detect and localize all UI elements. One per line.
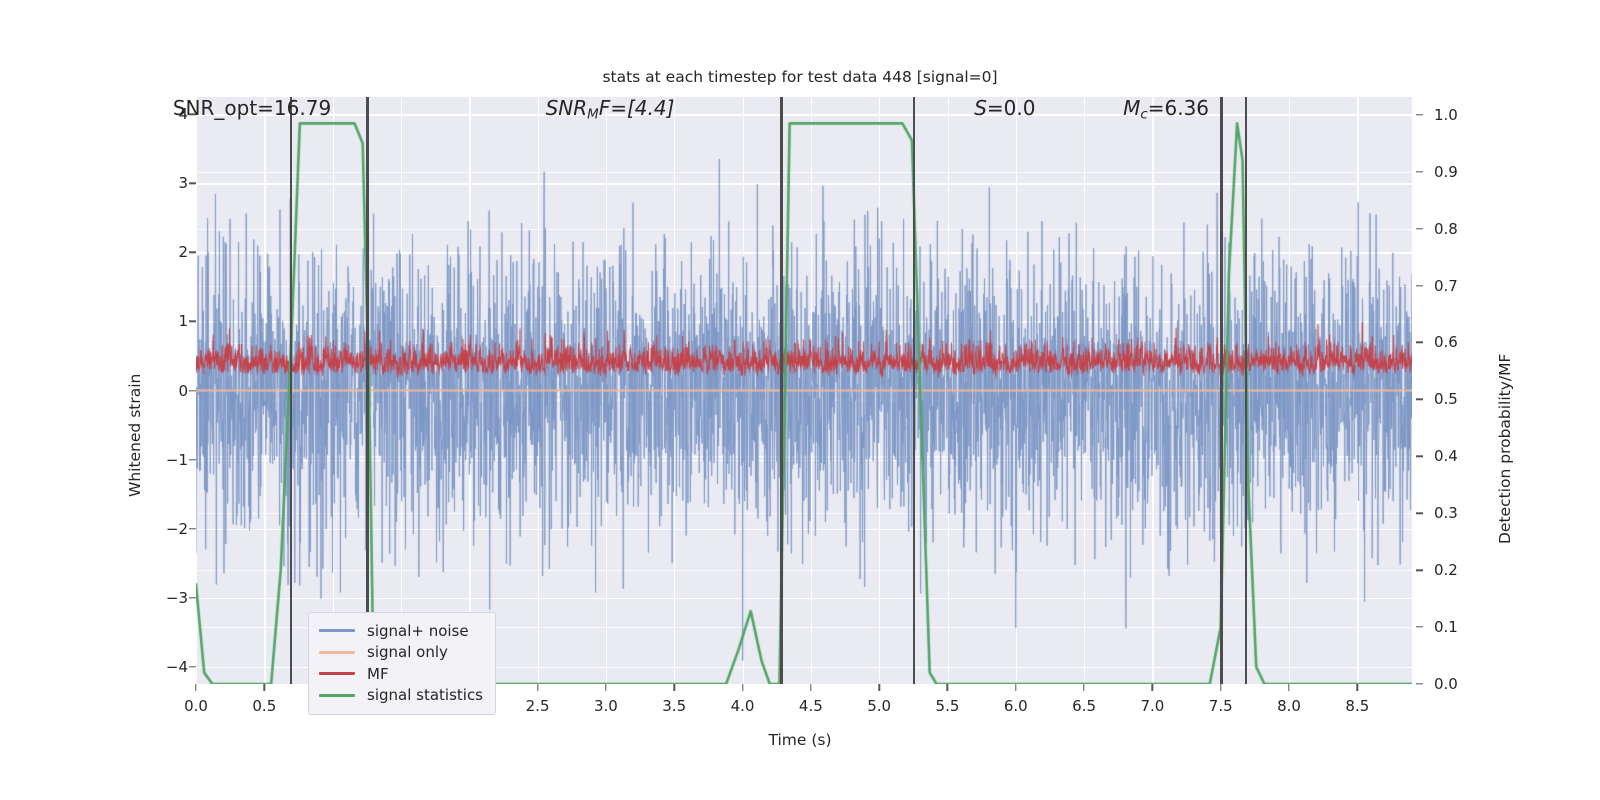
y-tick-mark-left	[189, 390, 196, 391]
x-tick-mark	[878, 684, 879, 691]
y-tick-mark-left	[189, 321, 196, 322]
y-tick-label-right: 0.8	[1434, 220, 1458, 238]
page-title: stats at each timestep for test data 448…	[0, 68, 1600, 86]
annotation-snr-mf: SNRMF=[4.4]	[546, 96, 675, 122]
y-tick-mark-left	[189, 252, 196, 253]
x-tick-mark	[1152, 684, 1153, 691]
y-tick-mark-right	[1416, 456, 1423, 457]
x-tick-label: 8.5	[1345, 697, 1369, 715]
y-tick-mark-right	[1416, 114, 1423, 115]
x-tick-mark	[1357, 684, 1358, 691]
legend-item-label: signal+ noise	[367, 622, 469, 640]
x-tick-label: 4.0	[731, 697, 755, 715]
y-tick-mark-right	[1416, 342, 1423, 343]
legend-color-swatch	[319, 651, 355, 654]
annotation-s-value: S=0.0	[974, 96, 1035, 120]
y-tick-label-left: 0	[146, 382, 188, 400]
legend-item[interactable]: signal+ noise	[319, 620, 483, 642]
y-tick-label-left: 2	[146, 243, 188, 261]
y-tick-label-left: −1	[146, 451, 188, 469]
y-tick-label-left: −4	[146, 658, 188, 676]
signal-statistics-curve	[196, 97, 1412, 684]
y-tick-label-right: 0.2	[1434, 561, 1458, 579]
x-tick-mark	[1288, 684, 1289, 691]
y-tick-label-right: 0.9	[1434, 163, 1458, 181]
x-tick-mark	[1015, 684, 1016, 691]
legend-color-swatch	[319, 694, 355, 697]
x-tick-mark	[195, 684, 196, 691]
y-tick-label-right: 0.0	[1434, 675, 1458, 693]
y-tick-mark-right	[1416, 171, 1423, 172]
legend-item-label: signal only	[367, 643, 448, 661]
x-axis-label: Time (s)	[0, 731, 1600, 749]
legend-color-swatch	[319, 629, 355, 632]
y-tick-label-right: 0.1	[1434, 618, 1458, 636]
legend-item[interactable]: MF	[319, 663, 483, 685]
x-tick-label: 6.0	[1004, 697, 1028, 715]
y-tick-label-left: 3	[146, 174, 188, 192]
y-tick-label-left: −2	[146, 520, 188, 538]
y-tick-mark-right	[1416, 569, 1423, 570]
x-tick-mark	[605, 684, 606, 691]
x-tick-mark	[742, 684, 743, 691]
y-tick-mark-left	[189, 528, 196, 529]
y-tick-mark-left	[189, 597, 196, 598]
y-tick-label-left: 1	[146, 312, 188, 330]
legend-item[interactable]: signal statistics	[319, 685, 483, 707]
y-tick-mark-right	[1416, 626, 1423, 627]
y-tick-mark-right	[1416, 513, 1423, 514]
y-axis-label-right: Detection probability/MF	[1496, 354, 1514, 544]
x-tick-mark	[537, 684, 538, 691]
x-tick-label: 3.5	[662, 697, 686, 715]
legend-color-swatch	[319, 672, 355, 675]
y-tick-label-right: 0.5	[1434, 390, 1458, 408]
x-tick-label: 3.0	[594, 697, 618, 715]
event-marker-line	[290, 97, 292, 684]
y-tick-label-right: 1.0	[1434, 106, 1458, 124]
y-tick-mark-right	[1416, 285, 1423, 286]
y-tick-mark-right	[1416, 228, 1423, 229]
y-tick-mark-left	[189, 459, 196, 460]
y-tick-label-right: 0.4	[1434, 447, 1458, 465]
y-tick-mark-right	[1416, 683, 1423, 684]
y-tick-label-right: 0.6	[1434, 333, 1458, 351]
x-tick-label: 0.5	[252, 697, 276, 715]
annotation-snr-opt: SNR_opt=16.79	[173, 96, 331, 120]
y-tick-label-right: 0.3	[1434, 504, 1458, 522]
x-tick-label: 7.5	[1209, 697, 1233, 715]
x-tick-mark	[810, 684, 811, 691]
y-tick-mark-right	[1416, 399, 1423, 400]
event-marker-line	[1245, 97, 1247, 684]
event-marker-line	[780, 97, 782, 684]
legend[interactable]: signal+ noisesignal onlyMFsignal statist…	[308, 612, 496, 715]
x-tick-mark	[264, 684, 265, 691]
y-axis-label-left: Whitened strain	[126, 374, 144, 497]
x-tick-label: 8.0	[1277, 697, 1301, 715]
x-tick-mark	[947, 684, 948, 691]
x-tick-label: 5.5	[936, 697, 960, 715]
x-tick-mark	[1220, 684, 1221, 691]
annotation-mc-value: Mc=6.36	[1123, 96, 1209, 122]
y-tick-mark-left	[189, 183, 196, 184]
plot-area	[196, 97, 1412, 684]
x-tick-label: 0.0	[184, 697, 208, 715]
legend-item-label: signal statistics	[367, 686, 483, 704]
x-tick-label: 6.5	[1072, 697, 1096, 715]
legend-item[interactable]: signal only	[319, 642, 483, 664]
event-marker-line	[1220, 97, 1222, 684]
x-tick-label: 5.0	[867, 697, 891, 715]
event-marker-line	[913, 97, 915, 684]
x-tick-label: 4.5	[799, 697, 823, 715]
x-tick-mark	[1083, 684, 1084, 691]
x-tick-label: 7.0	[1140, 697, 1164, 715]
y-tick-mark-left	[189, 666, 196, 667]
y-tick-label-left: −3	[146, 589, 188, 607]
x-tick-mark	[673, 684, 674, 691]
y-tick-label-right: 0.7	[1434, 277, 1458, 295]
x-tick-label: 2.5	[526, 697, 550, 715]
legend-item-label: MF	[367, 665, 389, 683]
figure-canvas: stats at each timestep for test data 448…	[0, 0, 1600, 800]
event-marker-line	[366, 97, 368, 684]
